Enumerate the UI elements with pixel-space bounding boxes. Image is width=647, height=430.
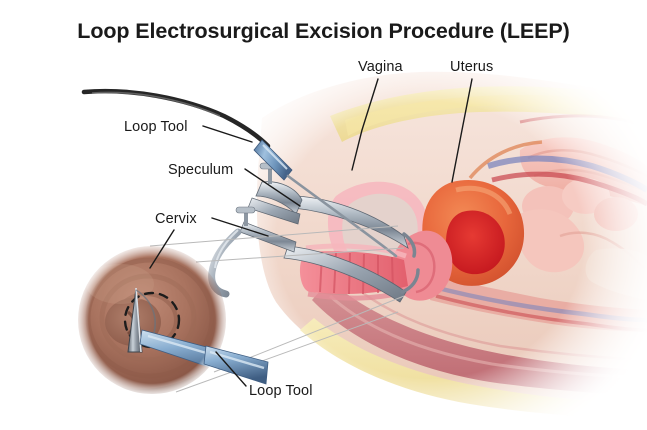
sagittal-cross-section <box>257 72 647 420</box>
leep-figure: Loop Electrosurgical Excision Procedure … <box>0 0 647 430</box>
inset-highlight <box>86 264 154 304</box>
label-loop-tool-top: Loop Tool <box>124 119 188 135</box>
label-loop-tool-bottom: Loop Tool <box>249 383 313 399</box>
label-speculum: Speculum <box>168 162 233 178</box>
speculum-lock-screw <box>236 207 255 226</box>
illustration-canvas <box>0 0 647 430</box>
label-cervix: Cervix <box>155 211 197 227</box>
label-vagina: Vagina <box>358 59 403 75</box>
loop-tool-cable-highlight <box>92 92 220 116</box>
label-uterus: Uterus <box>450 59 493 75</box>
